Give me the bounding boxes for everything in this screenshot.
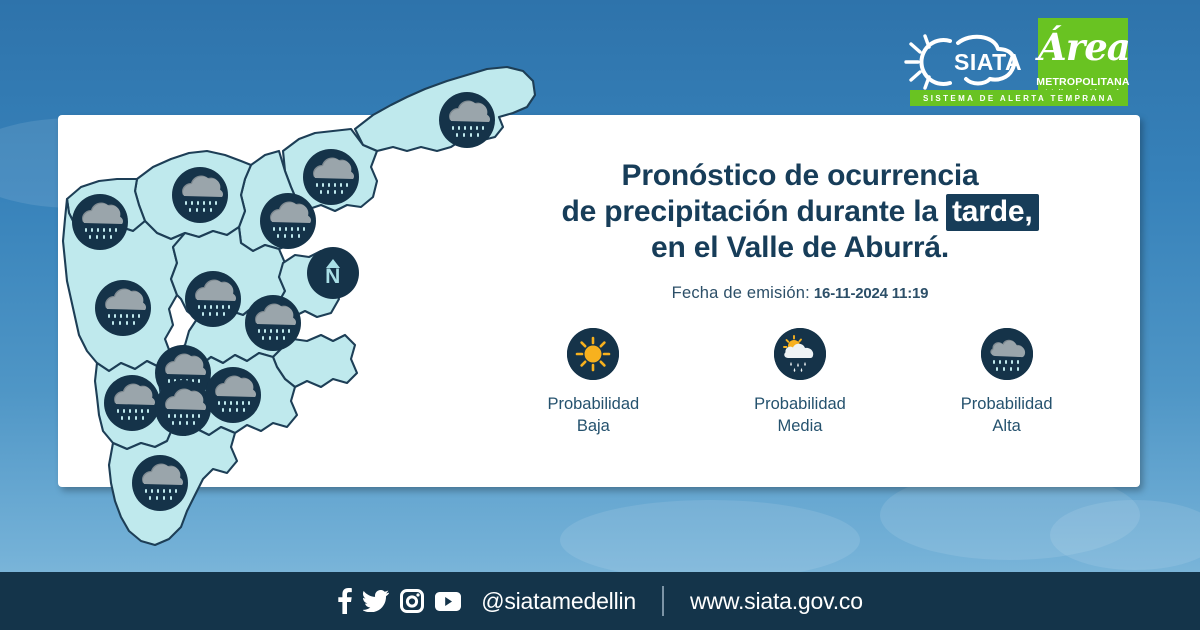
forecast-text-block: Pronóstico de ocurrencia de precipitació… (480, 158, 1120, 303)
social-handle[interactable]: @siatamedellin (481, 588, 636, 615)
siata-logo: SIATA (898, 29, 1026, 95)
youtube-icon[interactable] (435, 592, 461, 611)
legend-label-low-line1: Probabilidad (501, 393, 686, 415)
social-icons (337, 588, 461, 614)
instagram-icon[interactable] (400, 589, 424, 613)
title-line-1: Pronóstico de ocurrencia (480, 158, 1120, 194)
area-script-text: Área (1038, 24, 1128, 70)
legend-icon-low (567, 328, 619, 380)
facebook-icon[interactable] (337, 588, 352, 614)
legend-icon-high (981, 328, 1033, 380)
title-line-2: de precipitación durante la tarde, (480, 194, 1120, 230)
legend-item-low: Probabilidad Baja (501, 328, 686, 437)
legend-label-medium-line1: Probabilidad (707, 393, 892, 415)
legend-label-low: Probabilidad Baja (501, 393, 686, 437)
issue-date-value: 16-11-2024 11:19 (814, 285, 928, 302)
legend-item-medium: Probabilidad Media (707, 328, 892, 437)
twitter-icon[interactable] (363, 590, 389, 612)
cloud-rain-icon (981, 328, 1033, 380)
legend-label-medium-line2: Media (707, 415, 892, 437)
title-line-2-text: de precipitación durante la (562, 195, 938, 228)
legend-label-high-line2: Alta (914, 415, 1099, 437)
legend-label-high-line1: Probabilidad (914, 393, 1099, 415)
background-cloud (560, 500, 860, 580)
legend-label-high: Probabilidad Alta (914, 393, 1099, 437)
legend-label-low-line2: Baja (501, 415, 686, 437)
compass-letter: N (325, 267, 341, 287)
early-warning-banner: SISTEMA DE ALERTA TEMPRANA (910, 90, 1128, 106)
legend-icon-medium (774, 328, 826, 380)
probability-legend: Probabilidad Baja (490, 328, 1110, 437)
title-highlight: tarde, (946, 194, 1039, 231)
sun-cloud-rain-icon (774, 328, 826, 380)
infographic-canvas: SIATA Área METROPOLITANA Valle de Aburrá… (0, 0, 1200, 630)
issue-date: Fecha de emisión:16-11-2024 11:19 (480, 284, 1120, 303)
area-logo-line1: METROPOLITANA (1036, 76, 1129, 88)
sun-cloud-icon: SIATA (898, 29, 1026, 95)
page-title: Pronóstico de ocurrencia de precipitació… (480, 158, 1120, 266)
footer-divider (662, 586, 664, 616)
background-cloud (1050, 500, 1200, 570)
legend-item-high: Probabilidad Alta (914, 328, 1099, 437)
legend-label-medium: Probabilidad Media (707, 393, 892, 437)
sun-icon (567, 328, 619, 380)
title-line-3: en el Valle de Aburrá. (480, 230, 1120, 266)
footer-bar: @siatamedellin www.siata.gov.co (0, 572, 1200, 630)
north-compass-badge: N (307, 247, 359, 299)
issue-date-label: Fecha de emisión: (672, 284, 810, 302)
siata-logo-text: SIATA (954, 49, 1022, 75)
website-url[interactable]: www.siata.gov.co (690, 588, 863, 615)
